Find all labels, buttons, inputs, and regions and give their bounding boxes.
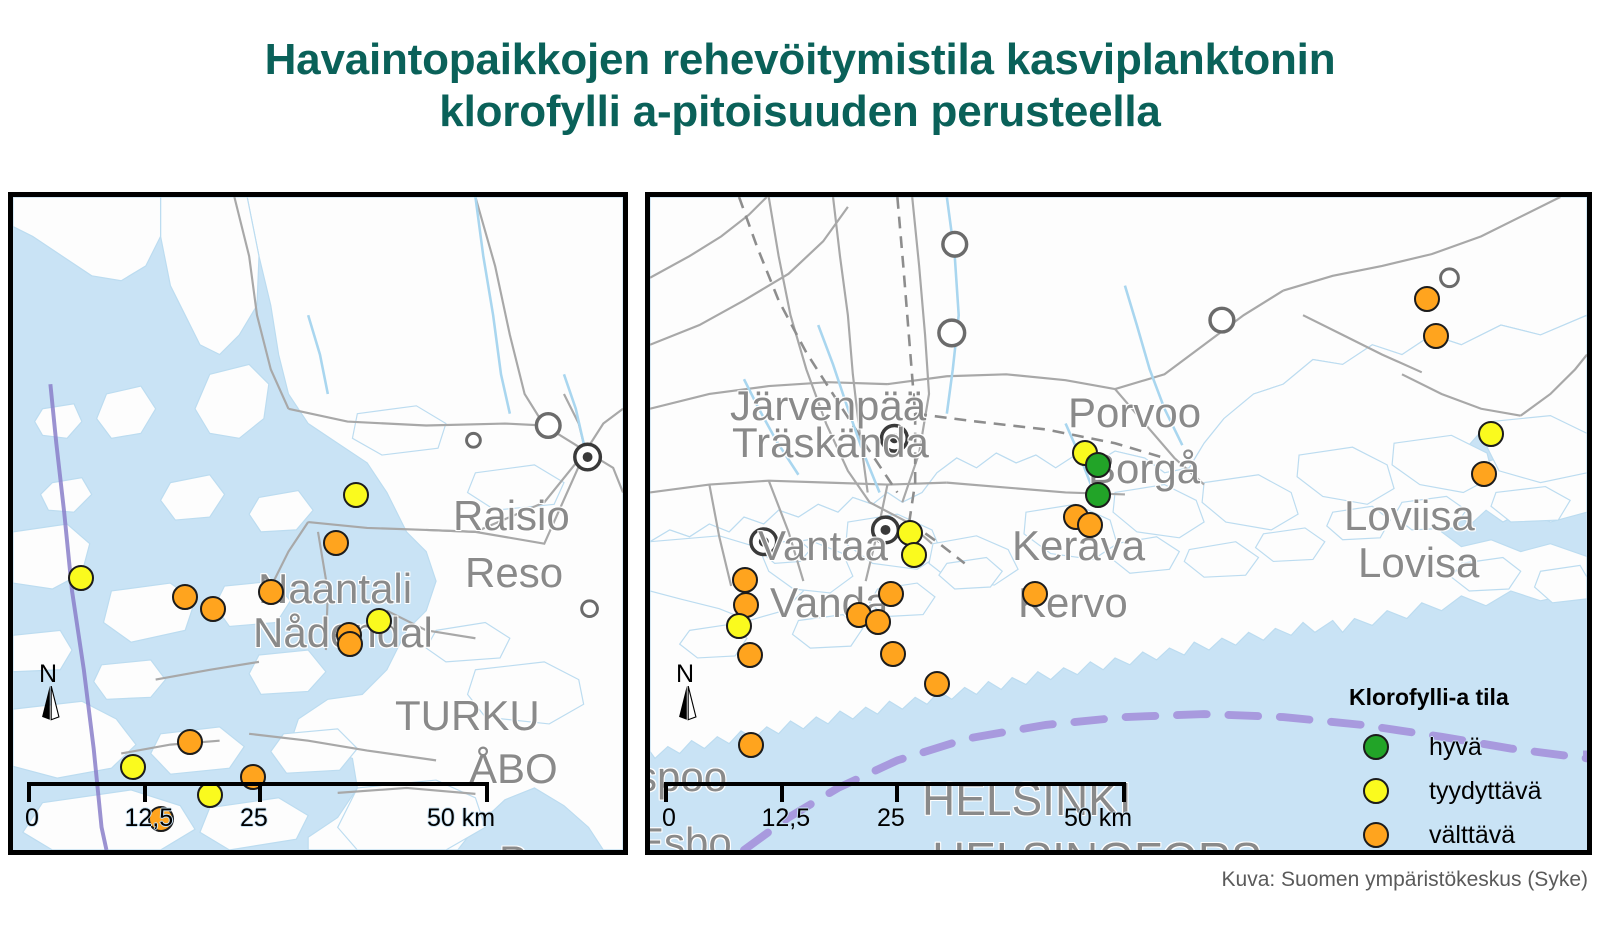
station-marker[interactable] — [1085, 452, 1111, 478]
legend-rows: hyvätyydyttävävälttävä — [1349, 725, 1595, 857]
legend-item-label: tyydyttävä — [1429, 777, 1542, 806]
station-marker[interactable] — [732, 567, 758, 593]
station-marker[interactable] — [726, 613, 752, 639]
scale-bar-label: 0 — [662, 804, 676, 833]
station-marker[interactable] — [880, 641, 906, 667]
station-marker[interactable] — [924, 671, 950, 697]
scale-bar-label: 50 km — [427, 804, 495, 833]
scale-bar-label: 12,5 — [762, 804, 811, 833]
scale-bar-tick — [485, 782, 489, 802]
scale-bar-tick — [780, 782, 784, 802]
legend-item-hyva[interactable]: hyvä — [1349, 725, 1595, 769]
legend-item-label: hyvä — [1429, 733, 1482, 762]
station-marker[interactable] — [901, 542, 927, 568]
station-marker[interactable] — [343, 482, 369, 508]
scale-bar-tick — [258, 782, 262, 802]
scale-bar-tick — [895, 782, 899, 802]
station-marker[interactable] — [865, 609, 891, 635]
station-marker[interactable] — [177, 729, 203, 755]
station-marker[interactable] — [323, 530, 349, 556]
station-marker[interactable] — [366, 608, 392, 634]
north-arrow-right: N — [668, 664, 714, 738]
legend-title: Klorofylli-a tila — [1349, 684, 1595, 711]
station-marker[interactable] — [1085, 482, 1111, 508]
station-marker[interactable] — [1423, 323, 1449, 349]
station-marker[interactable] — [737, 642, 763, 668]
page-title: Havaintopaikkojen rehevöitymistila kasvi… — [0, 34, 1600, 138]
station-marker[interactable] — [68, 565, 94, 591]
station-marker[interactable] — [1478, 421, 1504, 447]
scale-bar-label: 25 — [877, 804, 905, 833]
scale-bar-label: 12,5 — [125, 804, 174, 833]
station-marker[interactable] — [878, 581, 904, 607]
scale-bar-label: 50 km — [1064, 804, 1132, 833]
legend-swatch-icon — [1363, 778, 1389, 804]
station-marker[interactable] — [738, 732, 764, 758]
north-arrow-left: N — [31, 664, 77, 738]
station-marker[interactable] — [120, 754, 146, 780]
station-marker[interactable] — [258, 579, 284, 605]
turku-archipelago-map[interactable]: RaisioResoNaantaliNådendalTURKUÅBOPargas… — [8, 192, 628, 855]
legend-swatch-icon — [1363, 822, 1389, 848]
scale-bar-left: 012,52550 km — [27, 782, 489, 804]
station-marker[interactable] — [1022, 581, 1048, 607]
station-marker[interactable] — [337, 631, 363, 657]
scale-bar-tick — [1122, 782, 1126, 802]
station-marker[interactable] — [1414, 286, 1440, 312]
title-line-1: Havaintopaikkojen rehevöitymistila kasvi… — [0, 34, 1600, 86]
station-marker[interactable] — [1471, 461, 1497, 487]
scale-bar-label: 0 — [25, 804, 39, 833]
scale-bar-label: 25 — [240, 804, 268, 833]
legend: Klorofylli-a tila hyvätyydyttävävälttävä — [1349, 684, 1595, 857]
title-line-2: klorofylli a-pitoisuuden perusteella — [0, 86, 1600, 138]
legend-item-tyydyttava[interactable]: tyydyttävä — [1349, 769, 1595, 813]
legend-swatch-icon — [1363, 734, 1389, 760]
scale-bar-right: 012,52550 km — [664, 782, 1126, 804]
legend-item-label: välttävä — [1429, 821, 1515, 850]
station-marker[interactable] — [200, 596, 226, 622]
legend-item-valttava[interactable]: välttävä — [1349, 813, 1595, 857]
station-marker[interactable] — [1077, 512, 1103, 538]
scale-bar-tick — [143, 782, 147, 802]
scale-bar-tick — [664, 782, 668, 802]
image-credit: Kuva: Suomen ympäristökeskus (Syke) — [1222, 868, 1588, 892]
station-marker[interactable] — [172, 584, 198, 610]
north-label-right: N — [676, 660, 694, 689]
turku-map-basemap — [13, 197, 623, 850]
scale-bar-tick — [27, 782, 31, 802]
north-label-left: N — [39, 660, 57, 689]
